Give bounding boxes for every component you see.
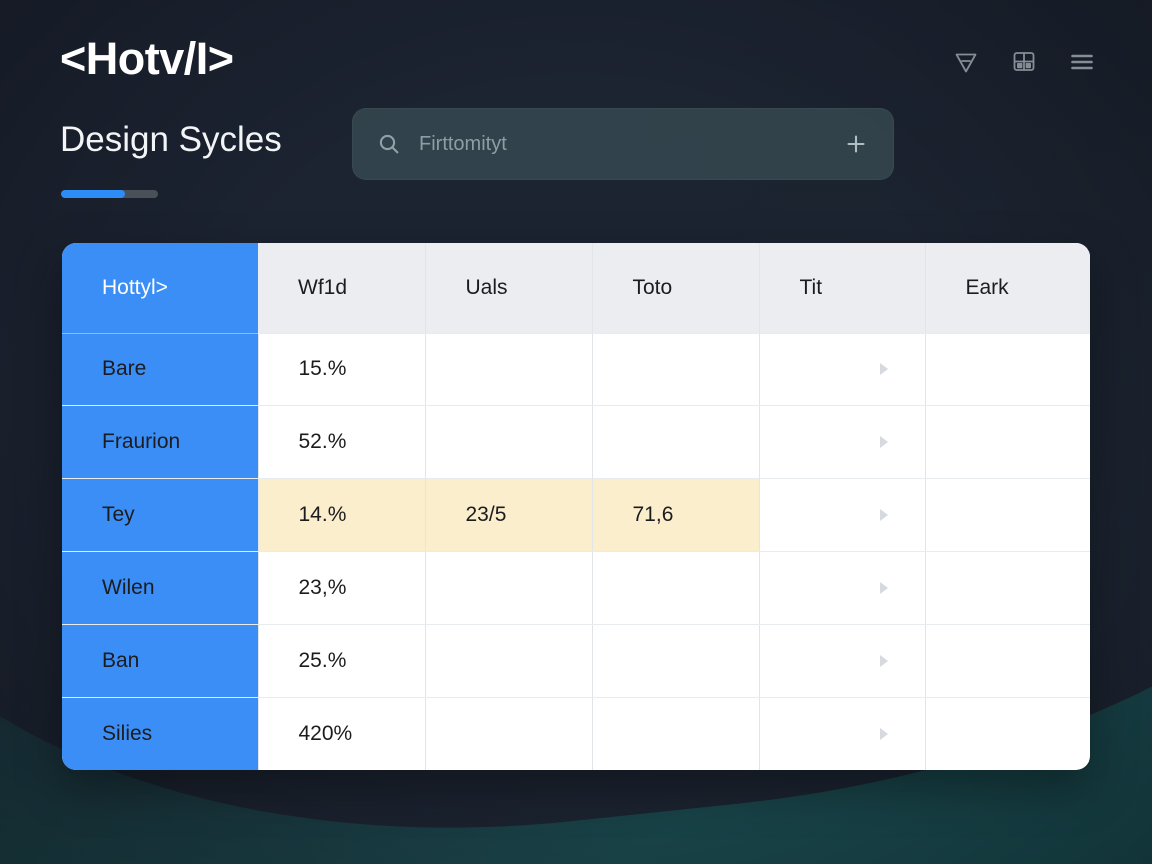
column-header-uals[interactable]: Uals xyxy=(425,243,592,333)
row-label[interactable]: Ban xyxy=(62,624,258,697)
search-icon xyxy=(377,132,401,156)
row-label[interactable]: Silies xyxy=(62,697,258,770)
column-header-wfid[interactable]: Wf1d xyxy=(258,243,425,333)
cell-eark xyxy=(925,551,1090,624)
cell-toto xyxy=(592,551,759,624)
row-label[interactable]: Wilen xyxy=(62,551,258,624)
table-row[interactable]: Ban 25.% xyxy=(62,624,1090,697)
cell-eark xyxy=(925,406,1090,479)
cell-eark xyxy=(925,624,1090,697)
layout-grid-icon[interactable] xyxy=(1006,44,1042,80)
chevron-right-icon[interactable] xyxy=(880,582,888,594)
search-bar[interactable] xyxy=(352,108,894,180)
chevron-right-icon[interactable] xyxy=(880,363,888,375)
chevron-right-icon[interactable] xyxy=(880,436,888,448)
data-table-card: Hottyl> Wf1d Uals Toto Tit Eark Bare 15.… xyxy=(62,243,1090,770)
cell-wfid: 23,% xyxy=(258,551,425,624)
cell-wfid: 15.% xyxy=(258,333,425,406)
cell-eark xyxy=(925,697,1090,770)
cell-wfid: 14.% xyxy=(258,479,425,552)
cell-wfid: 420% xyxy=(258,697,425,770)
column-header-eark[interactable]: Eark xyxy=(925,243,1090,333)
data-table: Hottyl> Wf1d Uals Toto Tit Eark Bare 15.… xyxy=(62,243,1090,770)
cell-uals xyxy=(425,624,592,697)
filter-funnel-icon[interactable] xyxy=(948,44,984,80)
column-header-tit[interactable]: Tit xyxy=(759,243,925,333)
cell-toto xyxy=(592,333,759,406)
table-row[interactable]: Tey 14.% 23/5 71,6 xyxy=(62,479,1090,552)
app-root: <Hotv/I> Design Sycles xyxy=(0,0,1152,864)
cell-tit[interactable] xyxy=(759,624,925,697)
cell-tit[interactable] xyxy=(759,333,925,406)
chevron-right-icon[interactable] xyxy=(880,509,888,521)
row-label[interactable]: Fraurion xyxy=(62,406,258,479)
plus-icon[interactable] xyxy=(841,129,871,159)
table-row[interactable]: Silies 420% xyxy=(62,697,1090,770)
search-input[interactable] xyxy=(419,133,841,156)
cell-tit[interactable] xyxy=(759,479,925,552)
table-header: Hottyl> Wf1d Uals Toto Tit Eark xyxy=(62,243,1090,333)
cell-uals xyxy=(425,551,592,624)
app-logo: <Hotv/I> xyxy=(60,36,234,81)
cell-toto: 71,6 xyxy=(592,479,759,552)
hamburger-menu-icon[interactable] xyxy=(1064,44,1100,80)
row-label[interactable]: Tey xyxy=(62,479,258,552)
cell-tit[interactable] xyxy=(759,697,925,770)
table-header-row: Hottyl> Wf1d Uals Toto Tit Eark xyxy=(62,243,1090,333)
table-row[interactable]: Wilen 23,% xyxy=(62,551,1090,624)
cell-tit[interactable] xyxy=(759,551,925,624)
cell-toto xyxy=(592,697,759,770)
cell-uals xyxy=(425,333,592,406)
table-row[interactable]: Bare 15.% xyxy=(62,333,1090,406)
table-row[interactable]: Fraurion 52.% xyxy=(62,406,1090,479)
header-icon-group xyxy=(948,44,1100,80)
cell-toto xyxy=(592,624,759,697)
chevron-right-icon[interactable] xyxy=(880,655,888,667)
cell-eark xyxy=(925,333,1090,406)
page-title: Design Sycles xyxy=(60,122,282,157)
cell-tit[interactable] xyxy=(759,406,925,479)
chevron-right-icon[interactable] xyxy=(880,728,888,740)
progress-bar-fill xyxy=(61,190,125,198)
cell-uals: 23/5 xyxy=(425,479,592,552)
cell-wfid: 52.% xyxy=(258,406,425,479)
progress-bar xyxy=(61,190,158,198)
cell-toto xyxy=(592,406,759,479)
cell-wfid: 25.% xyxy=(258,624,425,697)
cell-uals xyxy=(425,406,592,479)
table-body: Bare 15.% Fraurion 52.% Tey xyxy=(62,333,1090,770)
column-header-toto[interactable]: Toto xyxy=(592,243,759,333)
row-label[interactable]: Bare xyxy=(62,333,258,406)
app-header: <Hotv/I> Design Sycles xyxy=(0,0,1152,230)
column-header-hottyl[interactable]: Hottyl> xyxy=(62,243,258,333)
cell-uals xyxy=(425,697,592,770)
cell-eark xyxy=(925,479,1090,552)
